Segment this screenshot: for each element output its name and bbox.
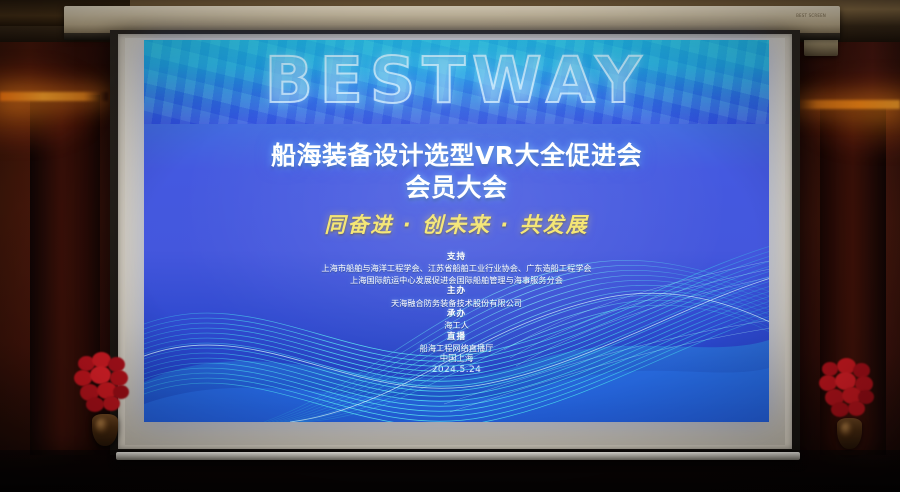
- right-cove-light-glow: [798, 70, 900, 155]
- screen-weight-bar: [116, 452, 800, 460]
- bestway-logo-text: BESTWAY: [144, 44, 769, 118]
- headline-line-1: 船海装备设计选型VR大全促进会: [271, 141, 642, 170]
- slide-headline: 船海装备设计选型VR大全促进会 会员大会: [144, 140, 769, 204]
- slide-wave-graphic: [144, 232, 769, 422]
- left-cove-light-glow: [0, 60, 100, 150]
- left-cove-light: [0, 92, 108, 101]
- flower-arrangement-left: [72, 352, 138, 452]
- screen-casing-label: BEST SCREEN: [796, 13, 826, 18]
- projected-slide: BESTWAY 船海装备设计选型VR大全促进会 会员大会 同奋进 · 创未来 ·…: [144, 40, 769, 422]
- headline-line-2: 会员大会: [144, 172, 769, 204]
- slide-logo-band: BESTWAY: [144, 40, 769, 124]
- conference-room-photo: BEST SCREEN BESTWAY 船海装备设计选型VR大全促进会 会员大会…: [0, 0, 900, 492]
- right-cove-light: [784, 100, 900, 109]
- flower-arrangement-right: [818, 356, 882, 452]
